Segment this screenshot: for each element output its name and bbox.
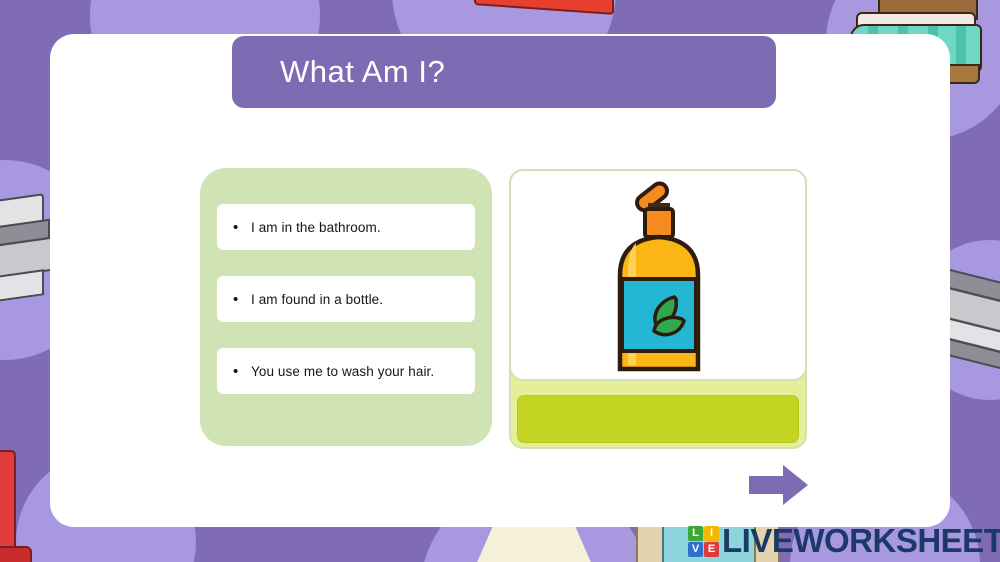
answer-input[interactable] (517, 395, 799, 443)
logo-wordmark: LIVEWORKSHEETS (722, 522, 1000, 560)
bullet-icon: • (233, 220, 251, 235)
bullet-icon: • (233, 292, 251, 307)
clue-item-2: • I am found in a bottle. (217, 276, 475, 322)
logo-tile-l: L (688, 526, 703, 541)
clue-text: I am in the bathroom. (251, 220, 381, 235)
logo-tile-v: V (688, 542, 703, 557)
logo-tiles: L I V E (688, 526, 719, 557)
answer-panel (509, 169, 807, 449)
page-title: What Am I? (232, 54, 445, 90)
cabinet-illustration (488, 0, 618, 18)
clue-text: You use me to wash your hair. (251, 364, 434, 379)
bullet-icon: • (233, 364, 251, 379)
clue-item-3: • You use me to wash your hair. (217, 348, 475, 394)
logo-tile-i: I (704, 526, 719, 541)
clue-panel: • I am in the bathroom. • I am found in … (200, 168, 492, 446)
title-banner: What Am I? (232, 36, 776, 108)
shampoo-bottle-icon (598, 179, 718, 375)
clue-item-1: • I am in the bathroom. (217, 204, 475, 250)
worksheet-screen: ♡ (0, 0, 1000, 562)
logo-tile-e: E (704, 542, 719, 557)
picture-frame (509, 169, 807, 381)
arrow-right-icon[interactable] (749, 463, 809, 507)
liveworksheets-logo: L I V E LIVEWORKSHEETS (688, 522, 1000, 560)
clue-text: I am found in a bottle. (251, 292, 383, 307)
